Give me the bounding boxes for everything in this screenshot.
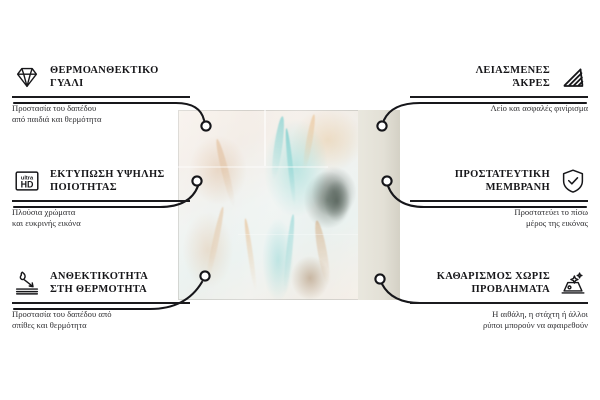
- desc-line2: και ευκρινής εικόνα: [12, 218, 190, 230]
- feature-title-line1: ΚΑΘΑΡΙΣΜΟΣ ΧΩΡΙΣ: [410, 270, 550, 283]
- feature-header: ΚΑΘΑΡΙΣΜΟΣ ΧΩΡΙΣ ΠΡΟΒΛΗΜΑΤΑ: [410, 268, 588, 298]
- feature-title: ΘΕΡΜΟΑΝΘΕΚΤΙΚΟ ΓΥΑΛΙ: [50, 64, 190, 91]
- divider: [410, 302, 588, 304]
- shield-check-icon: [558, 166, 588, 196]
- desc-line1: Λείο και ασφαλές φινίρισμα: [410, 103, 588, 115]
- divider: [12, 96, 190, 98]
- feature-description: Πλούσια χρώματα και ευκρινής εικόνα: [12, 207, 190, 231]
- feature-title-line1: ΘΕΡΜΟΑΝΘΕΚΤΙΚΟ: [50, 64, 190, 77]
- ultra-hd-icon: ultra HD: [12, 166, 42, 196]
- feature-title-line2: ΆΚΡΕΣ: [410, 77, 550, 90]
- desc-line2: μέρος της εικόνας: [410, 218, 588, 230]
- diamond-icon: [12, 62, 42, 92]
- feature-title-line1: ΛΕΙΑΣΜΕΝΕΣ: [410, 64, 550, 77]
- divider: [410, 96, 588, 98]
- feature-protective-membrane: ΠΡΟΣΤΑΤΕΥΤΙΚΗ ΜΕΜΒΡΑΝΗ Προστατεύει το πί…: [410, 166, 588, 230]
- feature-easy-cleaning: ΚΑΘΑΡΙΣΜΟΣ ΧΩΡΙΣ ΠΡΟΒΛΗΜΑΤΑ Η αιθάλη, η …: [410, 268, 588, 332]
- desc-line2: ρύποι μπορούν να αφαιρεθούν: [410, 320, 588, 332]
- feature-polished-edges: ΛΕΙΑΣΜΕΝΕΣ ΆΚΡΕΣ Λείο και ασφαλές φινίρι…: [410, 62, 588, 114]
- feature-title: ΠΡΟΣΤΑΤΕΥΤΙΚΗ ΜΕΜΒΡΑΝΗ: [410, 168, 550, 195]
- feature-description: Προστατεύει το πίσω μέρος της εικόνας: [410, 207, 588, 231]
- desc-line1: Η αιθάλη, η στάχτη ή άλλοι: [410, 309, 588, 321]
- polished-edges-icon: [558, 62, 588, 92]
- feature-heat-resistant-glass: ΘΕΡΜΟΑΝΘΕΚΤΙΚΟ ΓΥΑΛΙ Προστασία του δαπέδ…: [12, 62, 190, 126]
- divider: [12, 302, 190, 304]
- feature-header: ΘΕΡΜΟΑΝΘΕΚΤΙΚΟ ΓΥΑΛΙ: [12, 62, 190, 92]
- feature-title-line1: ΑΝΘΕΚΤΙΚΟΤΗΤΑ: [50, 270, 190, 283]
- desc-line2: σπίθες και θερμότητα: [12, 320, 190, 332]
- feature-description: Λείο και ασφαλές φινίρισμα: [410, 103, 588, 115]
- feature-title-line2: ΓΥΑΛΙ: [50, 77, 190, 90]
- feature-title-line2: ΣΤΗ ΘΕΡΜΟΤΗΤΑ: [50, 283, 190, 296]
- feature-title: ΚΑΘΑΡΙΣΜΟΣ ΧΩΡΙΣ ΠΡΟΒΛΗΜΑΤΑ: [410, 270, 550, 297]
- connector-dot: [200, 271, 209, 280]
- desc-line1: Προστασία του δαπέδου από: [12, 309, 190, 321]
- feature-title-line2: ΠΡΟΒΛΗΜΑΤΑ: [410, 283, 550, 296]
- feature-high-quality-print: ultra HD ΕΚΤΥΠΩΣΗ ΥΨΗΛΗΣ ΠΟΙΟΤΗΤΑΣ Πλούσ…: [12, 166, 190, 230]
- desc-line2: από παιδιά και θερμότητα: [12, 114, 190, 126]
- feature-title: ΛΕΙΑΣΜΕΝΕΣ ΆΚΡΕΣ: [410, 64, 550, 91]
- connector-dot: [375, 274, 384, 283]
- feature-title-line2: ΠΟΙΟΤΗΤΑΣ: [50, 181, 190, 194]
- feature-title-line1: ΠΡΟΣΤΑΤΕΥΤΙΚΗ: [410, 168, 550, 181]
- infographic-root: ΘΕΡΜΟΑΝΘΕΚΤΙΚΟ ΓΥΑΛΙ Προστασία του δαπέδ…: [0, 0, 600, 400]
- feature-title: ΑΝΘΕΚΤΙΚΟΤΗΤΑ ΣΤΗ ΘΕΡΜΟΤΗΤΑ: [50, 270, 190, 297]
- feature-header: ultra HD ΕΚΤΥΠΩΣΗ ΥΨΗΛΗΣ ΠΟΙΟΤΗΤΑΣ: [12, 166, 190, 196]
- connector-dot: [382, 176, 391, 185]
- desc-line1: Πλούσια χρώματα: [12, 207, 190, 219]
- divider: [12, 200, 190, 202]
- desc-line1: Προστατεύει το πίσω: [410, 207, 588, 219]
- feature-title: ΕΚΤΥΠΩΣΗ ΥΨΗΛΗΣ ΠΟΙΟΤΗΤΑΣ: [50, 168, 190, 195]
- feature-header: ΛΕΙΑΣΜΕΝΕΣ ΆΚΡΕΣ: [410, 62, 588, 92]
- desc-line1: Προστασία του δαπέδου: [12, 103, 190, 115]
- feature-header: ΠΡΟΣΤΑΤΕΥΤΙΚΗ ΜΕΜΒΡΑΝΗ: [410, 166, 588, 196]
- feature-heat-durability: ΑΝΘΕΚΤΙΚΟΤΗΤΑ ΣΤΗ ΘΕΡΜΟΤΗΤΑ Προστασία το…: [12, 268, 190, 332]
- feature-header: ΑΝΘΕΚΤΙΚΟΤΗΤΑ ΣΤΗ ΘΕΡΜΟΤΗΤΑ: [12, 268, 190, 298]
- feature-title-line1: ΕΚΤΥΠΩΣΗ ΥΨΗΛΗΣ: [50, 168, 190, 181]
- easy-clean-icon: [558, 268, 588, 298]
- divider: [410, 200, 588, 202]
- feature-description: Προστασία του δαπέδου από σπίθες και θερ…: [12, 309, 190, 333]
- connector-dot: [192, 176, 201, 185]
- feature-title-line2: ΜΕΜΒΡΑΝΗ: [410, 181, 550, 194]
- hd-label: HD: [21, 180, 34, 190]
- connector-dot: [201, 121, 210, 130]
- feature-description: Προστασία του δαπέδου από παιδιά και θερ…: [12, 103, 190, 127]
- connector-dot: [377, 121, 386, 130]
- feature-description: Η αιθάλη, η στάχτη ή άλλοι ρύποι μπορούν…: [410, 309, 588, 333]
- flame-resistant-icon: [12, 268, 42, 298]
